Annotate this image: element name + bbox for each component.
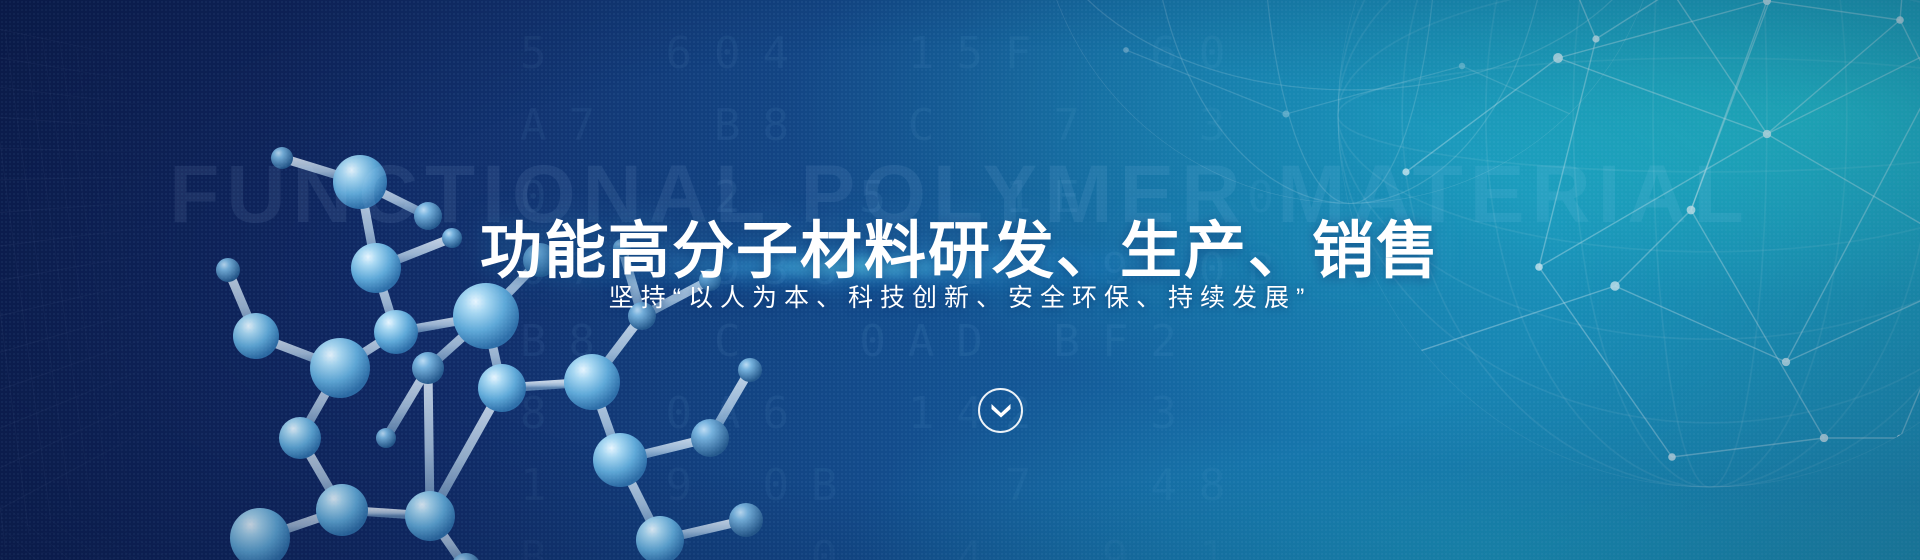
banner-headline: 功能高分子材料研发、生产、销售: [0, 200, 1920, 290]
banner-content: FUNCTIONAL POLYMER MATERIAL 功能高分子材料研发、生产…: [0, 0, 1920, 560]
hero-banner: 5 604 15F 60 A7 B8 C 7 3 0 2 5 1E 0 07 9…: [0, 0, 1920, 560]
scroll-down-button[interactable]: [978, 388, 1023, 433]
chevron-down-icon: [990, 403, 1012, 418]
banner-subheadline: 坚持“以人为本、科技创新、安全环保、持续发展”: [0, 278, 1920, 314]
